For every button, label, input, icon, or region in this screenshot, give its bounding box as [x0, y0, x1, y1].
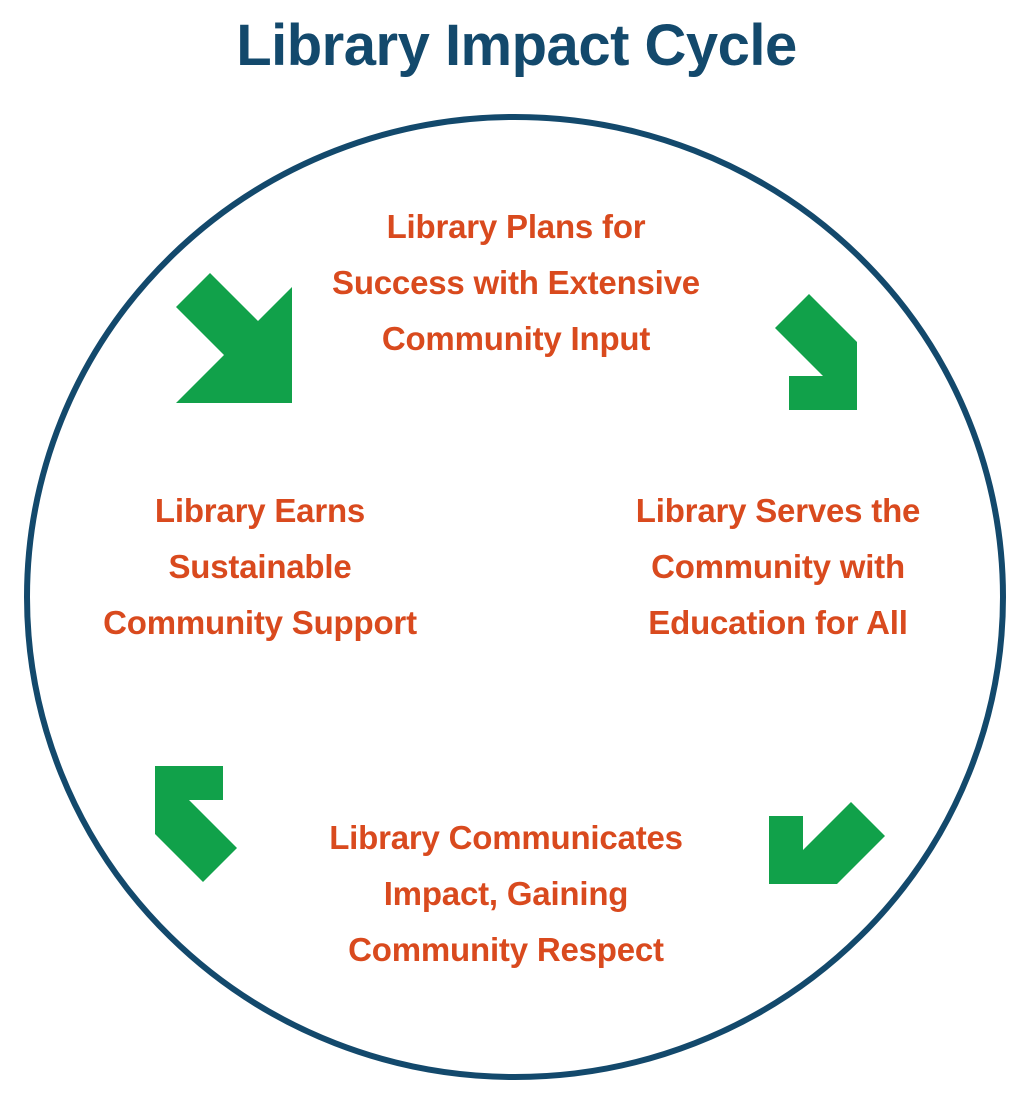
stage-serve-line-2: Community with	[583, 539, 973, 595]
arrow-up-left-icon	[155, 766, 237, 882]
arrow-down-right-icon	[775, 294, 857, 410]
stage-label-serve: Library Serves the Community with Educat…	[583, 483, 973, 651]
stage-earn-line-2: Sustainable	[60, 539, 460, 595]
stage-label-plan: Library Plans for Success with Extensive…	[271, 199, 761, 367]
arrow-down-left-icon	[769, 802, 885, 884]
stage-plan-line-1: Library Plans for	[271, 199, 761, 255]
diagram-canvas: Library Impact Cycle Library Plans for S…	[0, 0, 1033, 1105]
stage-plan-line-2: Success with Extensive	[271, 255, 761, 311]
stage-plan-line-3: Community Input	[271, 311, 761, 367]
stage-communicate-line-3: Community Respect	[281, 922, 731, 978]
stage-earn-line-1: Library Earns	[60, 483, 460, 539]
stage-serve-line-1: Library Serves the	[583, 483, 973, 539]
stage-label-earn: Library Earns Sustainable Community Supp…	[60, 483, 460, 651]
stage-serve-line-3: Education for All	[583, 595, 973, 651]
stage-communicate-line-1: Library Communicates	[281, 810, 731, 866]
stage-earn-line-3: Community Support	[60, 595, 460, 651]
stage-communicate-line-2: Impact, Gaining	[281, 866, 731, 922]
stage-label-communicate: Library Communicates Impact, Gaining Com…	[281, 810, 731, 978]
